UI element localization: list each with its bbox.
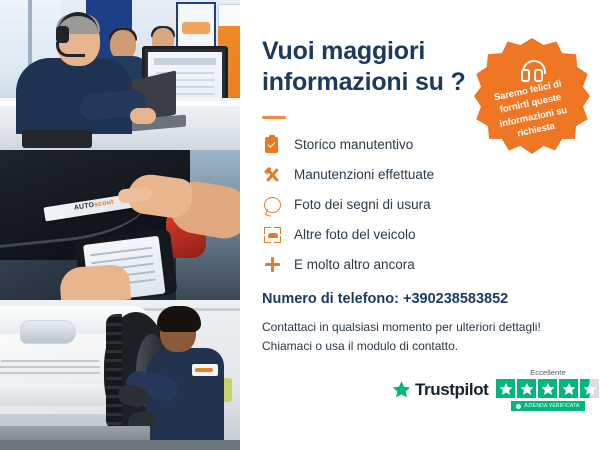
heading-underline <box>262 116 286 119</box>
tools-cross-icon <box>262 166 284 184</box>
white-car-grille <box>0 360 100 378</box>
feature-label: Altre foto del veicolo <box>294 228 416 242</box>
photo-column: AUTOscout <box>0 0 240 450</box>
heading-line-2: informazioni su ? <box>262 67 482 98</box>
tire-tread <box>106 314 122 430</box>
vehicle-inspection-photo: AUTOscout <box>0 150 240 300</box>
trustpilot-logo: Trustpilot <box>392 380 488 400</box>
check-icon <box>516 404 521 409</box>
white-car-headlight <box>20 320 76 344</box>
feature-label: Manutenzioni effettuate <box>294 168 434 182</box>
magnifier-icon <box>262 196 284 214</box>
list-item: E molto altro ancora <box>262 250 562 280</box>
garage-floor <box>0 440 240 450</box>
trustpilot-wordmark: Trustpilot <box>415 380 488 400</box>
monitor-app-bar <box>154 58 216 65</box>
star-filled <box>559 379 578 398</box>
promo-banner: AUTOscout <box>0 0 600 450</box>
car-frame-icon <box>262 226 284 244</box>
agent-hand <box>130 108 156 124</box>
headset-earcup <box>56 26 69 43</box>
white-car-bumper <box>0 384 110 406</box>
contact-line-2: Chiamaci o usa il modulo di contatto. <box>262 337 562 356</box>
headset-icon <box>521 60 543 80</box>
list-item: Foto dei segni di usura <box>262 190 562 220</box>
contact-line-1: Contattaci in qualsiasi momento per ulte… <box>262 318 562 337</box>
star-filled <box>517 379 536 398</box>
feature-label: Storico manutentivo <box>294 138 413 152</box>
plus-icon <box>262 256 284 274</box>
desk-tablet <box>22 130 92 148</box>
headset-earcup-right <box>534 69 543 82</box>
mechanic-wheel-photo <box>0 300 240 450</box>
feature-label: E molto altro ancora <box>294 258 415 272</box>
verified-label: AZIENDA VERIFICATA <box>524 403 579 409</box>
list-item: Storico manutentivo <box>262 130 562 160</box>
headset-earcup-left <box>521 69 530 82</box>
trustpilot-star-icon <box>392 380 411 399</box>
star-filled <box>538 379 557 398</box>
star-filled <box>496 379 515 398</box>
feature-list: Storico manutentivo Manutenzioni effettu… <box>262 130 562 280</box>
headset-microphone <box>56 42 85 57</box>
trustpilot-rating: Trustpilot Eccellente <box>392 368 599 411</box>
rating-label: Eccellente <box>530 368 566 377</box>
phone-number: Numero di telefono: +390238583852 <box>262 291 508 307</box>
heading-line-1: Vuoi maggiori <box>262 36 482 67</box>
call-center-agent-photo <box>0 0 240 150</box>
star-rating <box>496 379 599 398</box>
contact-instructions: Contattaci in qualsiasi momento per ulte… <box>262 318 562 357</box>
list-item: Manutenzioni effettuate <box>262 160 562 190</box>
page-title: Vuoi maggiori informazioni su ? <box>262 36 482 97</box>
list-item: Altre foto del veicolo <box>262 220 562 250</box>
content-panel: Vuoi maggiori informazioni su ? Saremo f… <box>240 0 600 450</box>
status-badge: AZIENDA VERIFICATA <box>511 401 584 411</box>
trustpilot-score: Eccellente <box>496 368 599 411</box>
clipboard-check-icon <box>262 136 284 154</box>
mechanic-hair <box>157 306 201 332</box>
hand-holding-phone <box>59 264 131 300</box>
mechanic-shirt-logo <box>192 364 218 376</box>
feature-label: Foto dei segni di usura <box>294 198 431 212</box>
star-half <box>580 379 599 398</box>
